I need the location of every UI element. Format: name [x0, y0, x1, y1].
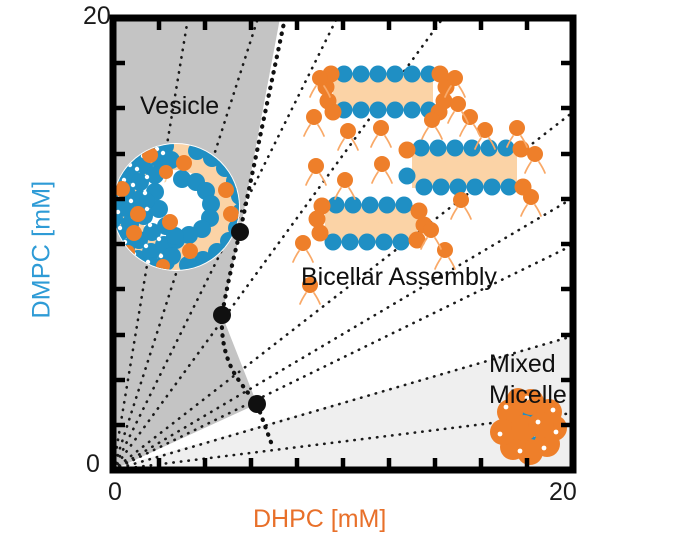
- region-label-bicellar-assembly: Bicellar Assembly: [301, 263, 497, 292]
- boundary-marker-3: [248, 395, 266, 413]
- x-axis-label: DHPC [mM]: [253, 505, 386, 534]
- y-axis-tick-label-min: 0: [86, 450, 100, 479]
- region-label-mixed-micelle-line1: Mixed: [489, 350, 556, 379]
- region-label-vesicle: Vesicle: [140, 92, 219, 121]
- region-label-mixed-micelle-line2: Micelle: [489, 381, 567, 410]
- y-axis-label: DMPC [mM]: [28, 170, 57, 330]
- x-axis-tick-label-min: 0: [108, 478, 122, 507]
- x-axis-tick-label-max: 20: [549, 478, 577, 507]
- boundary-marker-2: [213, 306, 231, 324]
- bicelle-disc-bottom: [309, 197, 433, 251]
- bicelle-disc-middle: [399, 140, 532, 196]
- y-axis-tick-label-max: 20: [83, 2, 111, 31]
- boundary-marker-1: [231, 223, 249, 241]
